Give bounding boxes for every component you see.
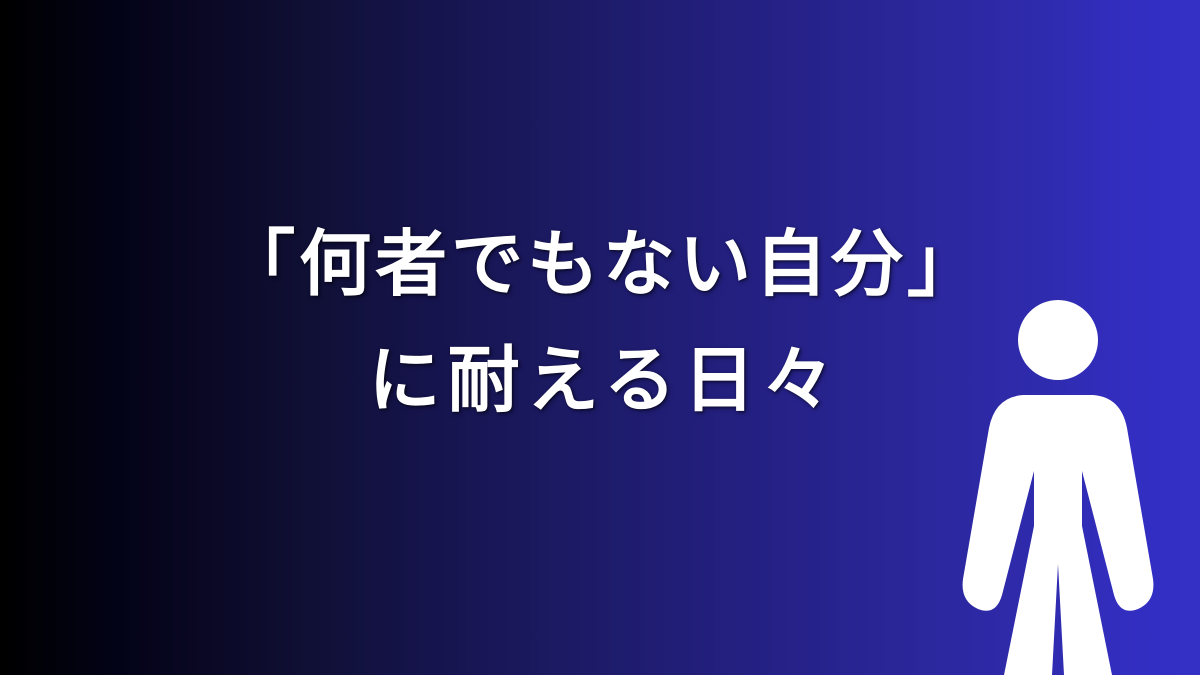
headline-line-1: 「何者でもない自分」 [0,228,1200,300]
pictogram-body [963,395,1154,675]
slide-canvas: 「何者でもない自分」 に耐える日々 [0,0,1200,675]
pictogram-head [1018,300,1098,380]
person-pictogram [930,296,1192,675]
